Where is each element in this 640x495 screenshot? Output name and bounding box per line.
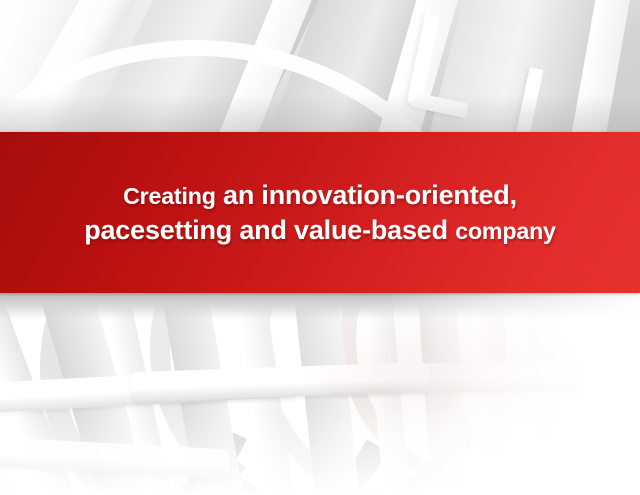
headline-lead-word: Creating: [123, 183, 216, 209]
slide-canvas: Creating an innovation-oriented, paceset…: [0, 0, 640, 495]
headline-banner: Creating an innovation-oriented, paceset…: [0, 132, 640, 293]
headline-line-1: Creating an innovation-oriented,: [10, 179, 630, 211]
headline-line-2: pacesetting and value-based company: [10, 214, 630, 246]
headline-emphasis-2: pacesetting and value-based: [84, 215, 448, 245]
headline-emphasis-1: an innovation-oriented,: [223, 180, 517, 210]
bottom-ribbon-artwork: [0, 293, 640, 495]
headline-text-block: Creating an innovation-oriented, paceset…: [0, 179, 640, 246]
headline-trail-word: company: [455, 218, 556, 244]
top-ribbon-artwork: [0, 0, 640, 140]
bottom-right-fade-overlay: [310, 345, 640, 495]
